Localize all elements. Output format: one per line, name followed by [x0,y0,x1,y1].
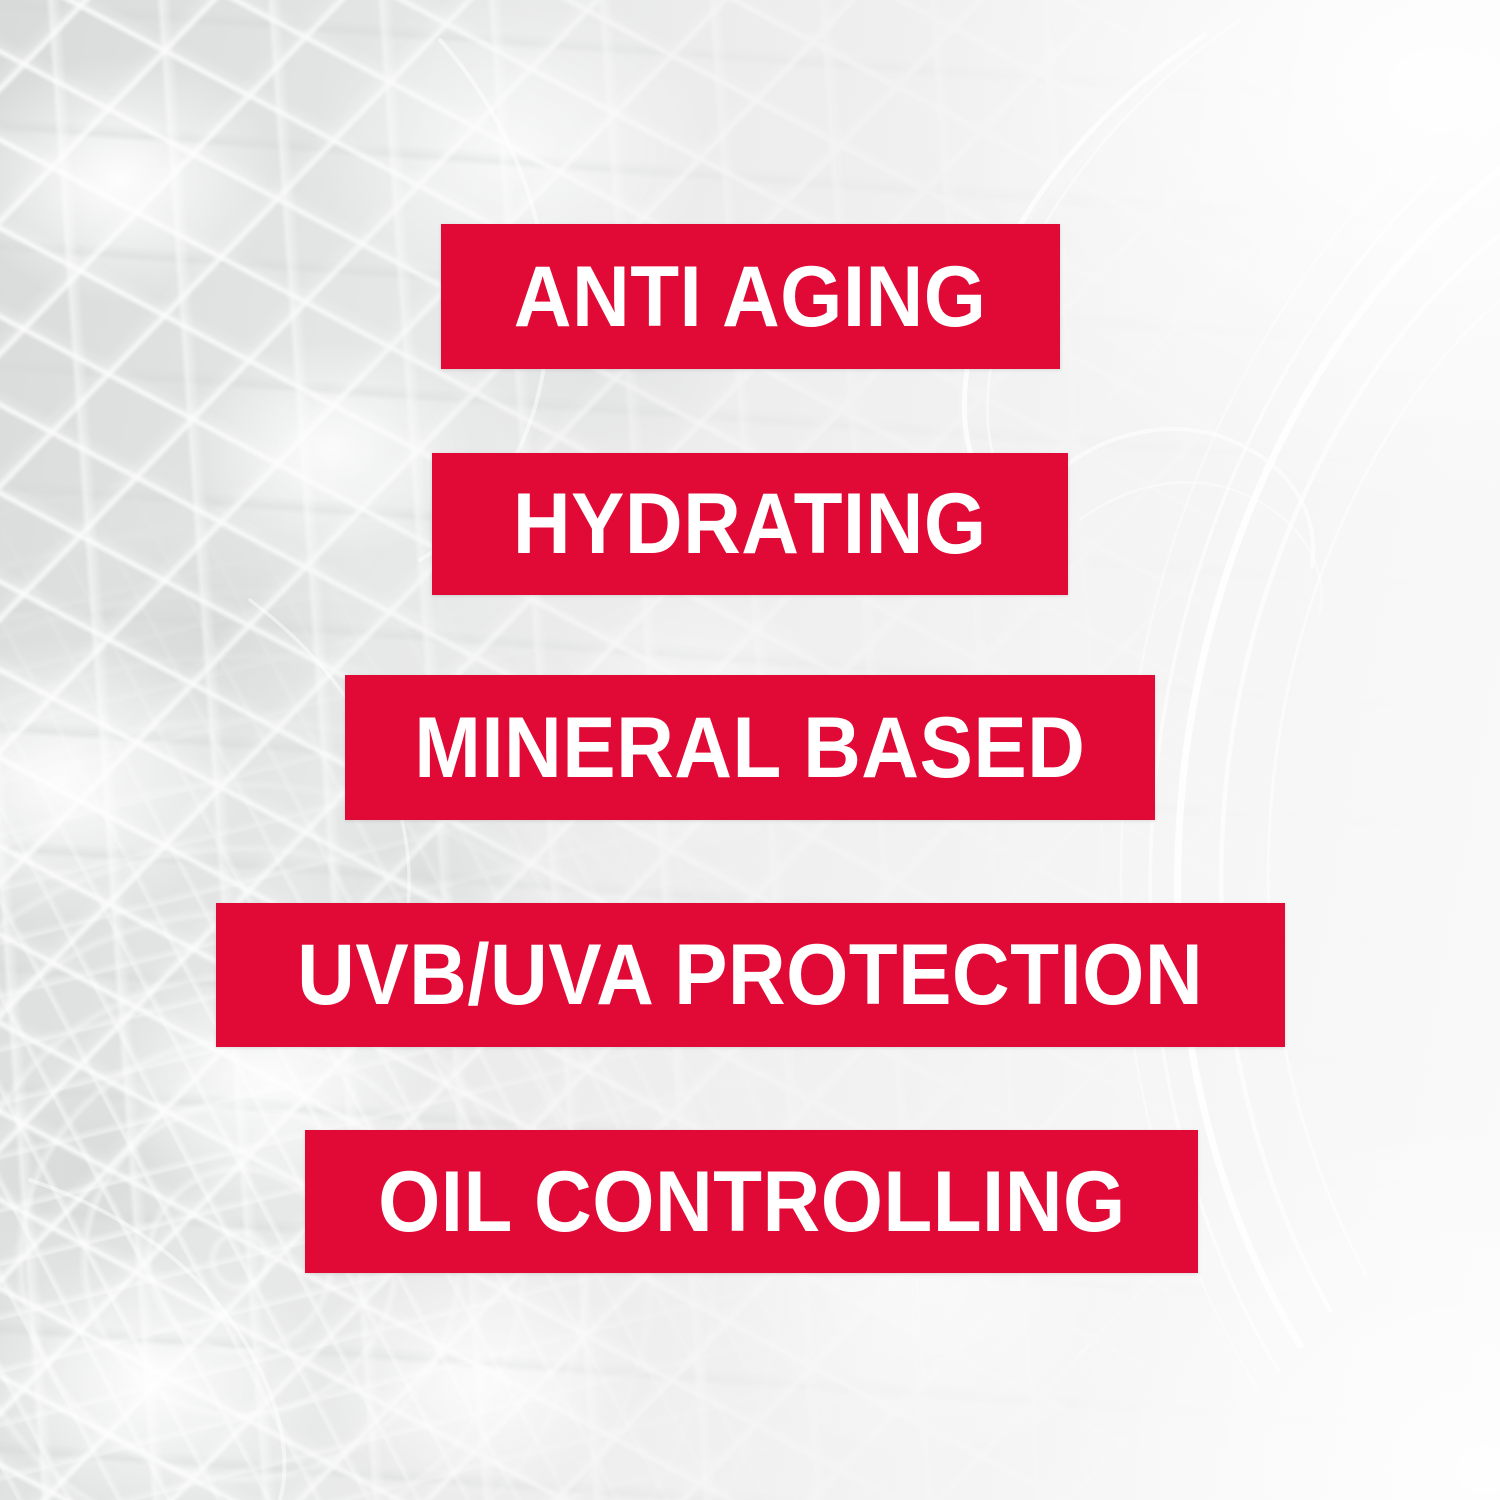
benefit-banner-anti-aging: ANTI AGING [441,224,1060,369]
benefit-banner-uvb-uva-protection: UVB/UVA PROTECTION [216,903,1285,1047]
benefit-banner-hydrating: HYDRATING [432,453,1068,595]
benefit-banner-mineral-based: MINERAL BASED [345,675,1155,820]
benefit-banner-oil-controlling: OIL CONTROLLING [305,1130,1198,1273]
benefit-label-hydrating: HYDRATING [513,481,987,567]
benefit-label-oil-controlling: OIL CONTROLLING [378,1159,1126,1245]
benefit-label-uvb-uva-protection: UVB/UVA PROTECTION [298,932,1204,1018]
product-benefits-graphic: ANTI AGING HYDRATING MINERAL BASED UVB/U… [0,0,1500,1500]
benefit-label-mineral-based: MINERAL BASED [414,705,1085,791]
benefit-banner-list: ANTI AGING HYDRATING MINERAL BASED UVB/U… [0,0,1500,1500]
benefit-label-anti-aging: ANTI AGING [514,254,987,340]
